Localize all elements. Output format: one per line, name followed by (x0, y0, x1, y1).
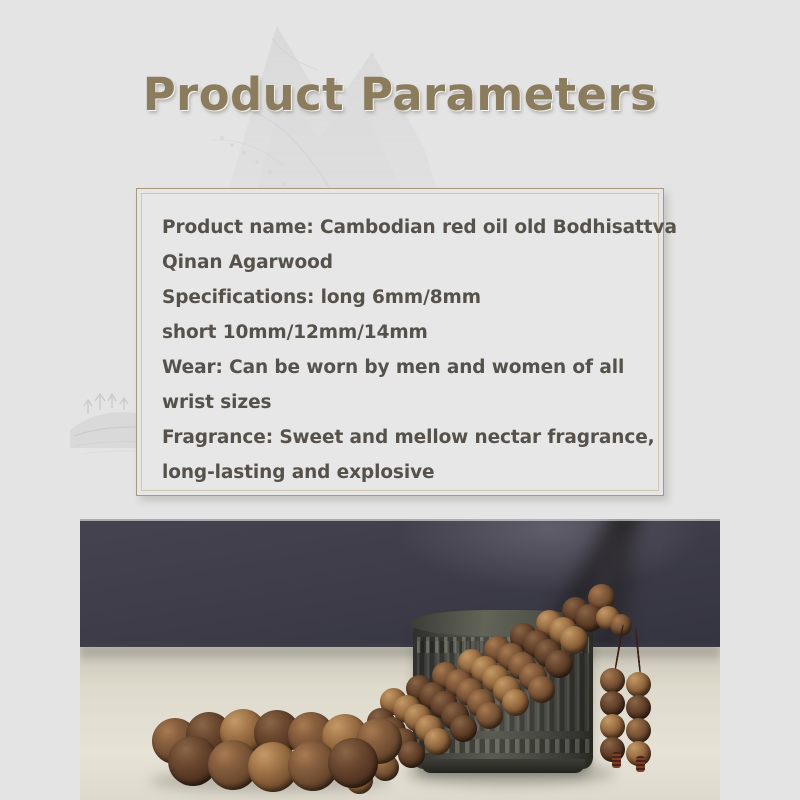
bead (476, 702, 503, 729)
page-title: Product Parameters (143, 68, 658, 121)
bead (626, 695, 651, 720)
bead (528, 676, 555, 703)
spec-line: Product name: Cambodian red oil old Bodh… (162, 210, 640, 245)
bead (626, 718, 651, 743)
spec-line: Wear: Can be worn by men and women of al… (162, 350, 640, 385)
spec-line: long-lasting and explosive (162, 455, 640, 490)
bead (424, 728, 451, 755)
specifications-box: Product name: Cambodian red oil old Bodh… (136, 188, 664, 496)
spec-line: Fragrance: Sweet and mellow nectar fragr… (162, 420, 640, 455)
bead (450, 715, 477, 742)
page-title-container: Product Parameters (0, 68, 800, 121)
bead (560, 626, 588, 654)
pot-foot (421, 759, 585, 773)
bead (502, 689, 529, 716)
photo-top-edge (80, 519, 720, 521)
tassel-knot (612, 752, 621, 768)
bead (328, 738, 378, 788)
bead (626, 672, 651, 697)
bead (545, 650, 573, 678)
specifications-box-inner: Product name: Cambodian red oil old Bodh… (141, 193, 659, 491)
spec-line: wrist sizes (162, 385, 640, 420)
bead (398, 741, 425, 768)
bead (600, 714, 625, 739)
product-parameters-page: Product Parameters Product name: Cambodi… (0, 0, 800, 800)
tassel-knot (636, 756, 645, 772)
spec-line: Specifications: long 6mm/8mm (162, 280, 640, 315)
bead (600, 691, 625, 716)
spec-line: short 10mm/12mm/14mm (162, 315, 640, 350)
spec-line: Qinan Agarwood (162, 245, 640, 280)
bead (600, 668, 625, 693)
